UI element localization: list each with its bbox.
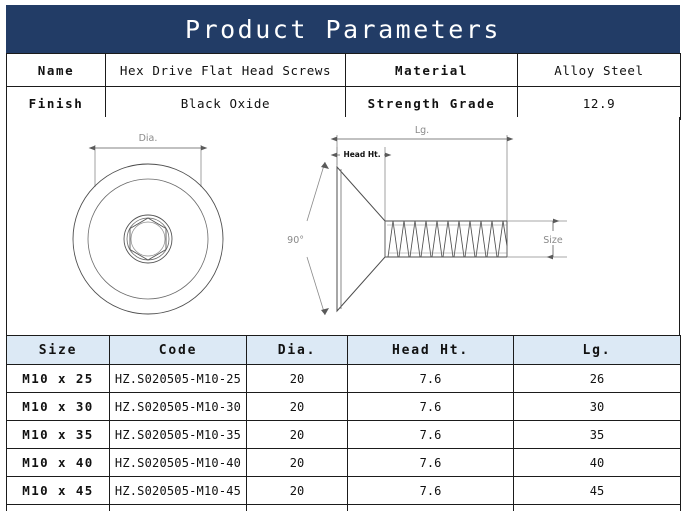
cell-size: M10 x 30 [7, 393, 110, 421]
spec-label-name: Name [7, 54, 106, 87]
cell-code: HZ.S020505-M10-40 [110, 449, 247, 477]
top-view-drawing: Dia. [73, 133, 223, 314]
cell-dia: 20 [247, 393, 348, 421]
cell-dia: 20 [247, 477, 348, 505]
cell-code: HZ.S020505-M10-30 [110, 393, 247, 421]
table-row: Name Hex Drive Flat Head Screws Material… [7, 54, 681, 87]
cell-lg: 45 [514, 477, 681, 505]
size-table-header-row: Size Code Dia. Head Ht. Lg. [7, 336, 681, 365]
side-view-drawing: Lg. Head Ht. 90° [287, 125, 571, 315]
head-ht-label: Head Ht. [343, 150, 380, 159]
table-row: Finish Black Oxide Strength Grade 12.9 [7, 87, 681, 120]
cell-head-ht: 7.6 [348, 365, 514, 393]
table-row: M10 x 35 HZ.S020505-M10-35 20 7.6 35 [7, 421, 681, 449]
size-label: Size [543, 235, 563, 246]
table-row: M10 x 45 HZ.S020505-M10-45 20 7.6 45 [7, 477, 681, 505]
spec-value-strength-grade: 12.9 [518, 87, 681, 120]
cell-head-ht: 7.6 [348, 477, 514, 505]
cell-code: HZ.S020505-M10-45 [110, 477, 247, 505]
column-header-lg: Lg. [514, 336, 681, 365]
flat-head-profile [337, 167, 385, 311]
hex-socket-shape [130, 218, 166, 260]
cell-size: M10 x 35 [7, 421, 110, 449]
cell-dia: 20 [247, 505, 348, 511]
cell-size: M10 x 40 [7, 449, 110, 477]
column-header-code: Code [110, 336, 247, 365]
angle-label: 90° [287, 235, 304, 246]
column-header-head-ht: Head Ht. [348, 336, 514, 365]
head-outer-circle [73, 164, 223, 314]
head-height-dimension: Head Ht. [337, 147, 385, 239]
lg-label: Lg. [415, 125, 429, 136]
size-dimension: Size [507, 221, 571, 257]
page-title: Product Parameters [185, 15, 501, 44]
cell-head-ht: 7.6 [348, 393, 514, 421]
spec-table: Name Hex Drive Flat Head Screws Material… [6, 53, 681, 120]
cell-dia: 20 [247, 449, 348, 477]
cell-size: M10 x 45 [7, 477, 110, 505]
cell-code: HZ.S020505-M10-35 [110, 421, 247, 449]
column-header-dia: Dia. [247, 336, 348, 365]
cell-lg: 35 [514, 421, 681, 449]
cell-head-ht: 7.6 [348, 421, 514, 449]
spec-label-finish: Finish [7, 87, 106, 120]
cell-lg: 30 [514, 393, 681, 421]
product-parameters-page: Product Parameters Name Hex Drive Flat H… [0, 0, 686, 511]
page-title-banner: Product Parameters [6, 5, 680, 53]
table-row: M10 x 40 HZ.S020505-M10-40 20 7.6 40 [7, 449, 681, 477]
cell-lg: 50 [514, 505, 681, 511]
thread-profile [388, 221, 507, 257]
cell-head-ht: 7.6 [348, 449, 514, 477]
cell-size: M10 x 50 [7, 505, 110, 511]
technical-drawing: Dia. Lg. [6, 117, 680, 335]
cell-dia: 20 [247, 421, 348, 449]
cell-code: HZ.S020505-M10-25 [110, 365, 247, 393]
spec-value-material: Alloy Steel [518, 54, 681, 87]
dia-label: Dia. [139, 133, 158, 144]
size-table: Size Code Dia. Head Ht. Lg. M10 x 25 HZ.… [6, 335, 681, 511]
spec-label-strength-grade: Strength Grade [346, 87, 518, 120]
head-chamfer-circle [88, 179, 208, 299]
socket-inner-circle [127, 218, 169, 260]
cell-size: M10 x 25 [7, 365, 110, 393]
table-row: M10 x 30 HZ.S020505-M10-30 20 7.6 30 [7, 393, 681, 421]
cell-dia: 20 [247, 365, 348, 393]
column-header-size: Size [7, 336, 110, 365]
spec-value-finish: Black Oxide [106, 87, 346, 120]
table-row: M10 x 25 HZ.S020505-M10-25 20 7.6 26 [7, 365, 681, 393]
cell-lg: 26 [514, 365, 681, 393]
countersink-angle-indicator: 90° [287, 162, 329, 315]
socket-bore-circle [131, 222, 165, 256]
cell-code: HZ.S020505-M10-50 [110, 505, 247, 511]
table-row: M10 x 50 HZ.S020505-M10-50 20 7.6 50 [7, 505, 681, 511]
cell-head-ht: 7.6 [348, 505, 514, 511]
cell-lg: 40 [514, 449, 681, 477]
spec-value-name: Hex Drive Flat Head Screws [106, 54, 346, 87]
spec-label-material: Material [346, 54, 518, 87]
